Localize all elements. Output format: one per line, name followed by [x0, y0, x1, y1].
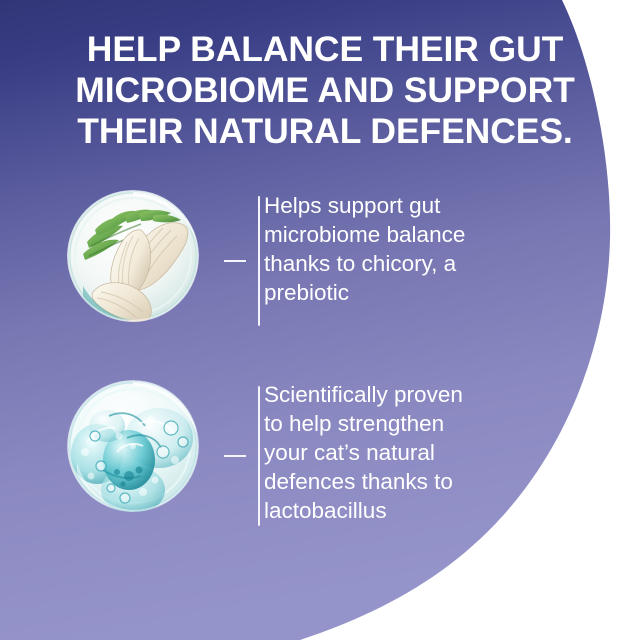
divider-tick-mark	[224, 260, 246, 262]
feature-text-lactobacillus: Scientifically proven to help strengthen…	[264, 380, 524, 525]
feature-text-line: defences thanks to	[264, 467, 524, 496]
chicory-root-petri-dish-image	[67, 190, 199, 322]
feature-text-line: Scientifically proven	[264, 380, 524, 409]
feature-text-line: microbiome balance	[264, 220, 524, 249]
infographic-canvas: HELP BALANCE THEIR GUT MICROBIOME AND SU…	[0, 0, 640, 640]
page-title-line-1: HELP BALANCE THEIR GUT	[18, 29, 632, 70]
feature-row-lactobacillus: Scientifically proven to help strengthen…	[0, 374, 640, 534]
feature-text-line: prebiotic	[264, 278, 524, 307]
divider-vertical-bar	[258, 386, 260, 526]
feature-row-chicory: Helps support gut microbiome balance tha…	[0, 190, 640, 350]
divider-tick-mark	[224, 455, 246, 457]
feature-text-chicory: Helps support gut microbiome balance tha…	[264, 191, 524, 307]
feature-divider-chicory	[238, 196, 260, 326]
feature-text-line: thanks to chicory, a	[264, 249, 524, 278]
page-title-line-3: THEIR NATURAL DEFENCES.	[18, 111, 632, 152]
feature-text-line: to help strengthen	[264, 409, 524, 438]
page-title: HELP BALANCE THEIR GUT MICROBIOME AND SU…	[18, 29, 632, 152]
lactobacillus-bubbles-petri-dish-image	[67, 380, 199, 512]
feature-text-line: Helps support gut	[264, 191, 524, 220]
feature-text-line: lactobacillus	[264, 496, 524, 525]
feature-text-line: your cat’s natural	[264, 438, 524, 467]
divider-vertical-bar	[258, 196, 260, 326]
feature-divider-lactobacillus	[238, 386, 260, 526]
page-title-line-2: MICROBIOME AND SUPPORT	[18, 70, 632, 111]
